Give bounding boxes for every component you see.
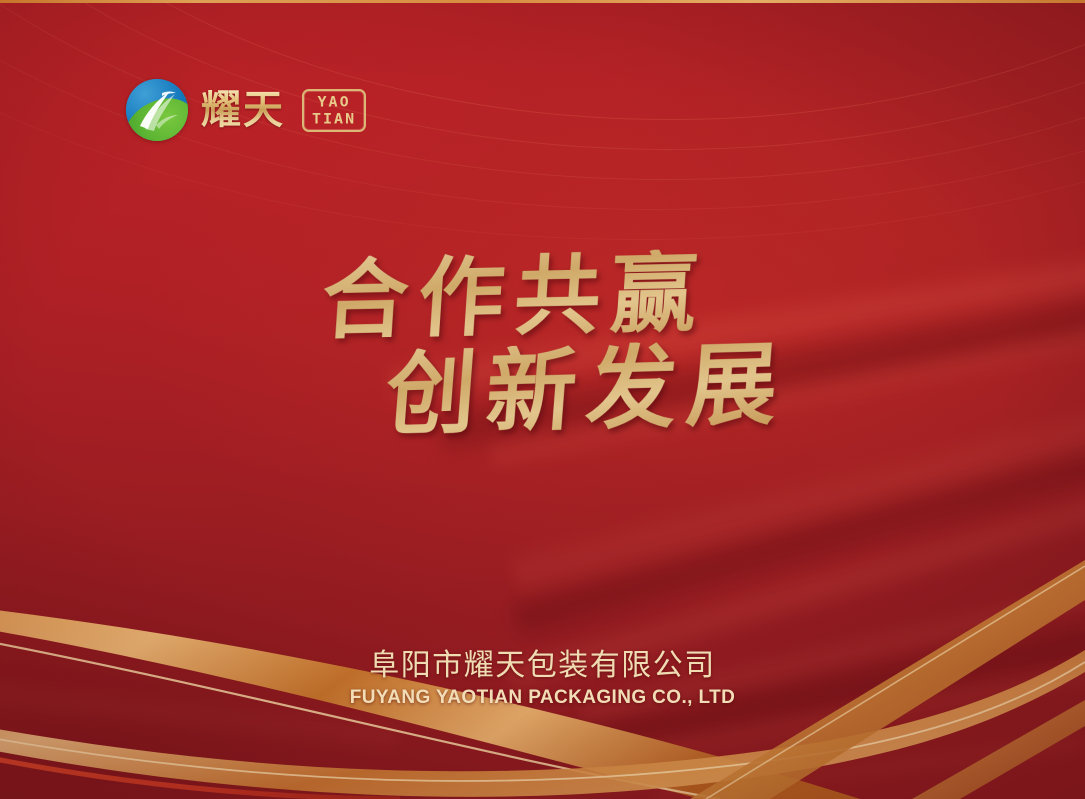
top-gold-rule xyxy=(0,0,1085,3)
company-name-cn: 阜阳市耀天包装有限公司 xyxy=(0,648,1085,684)
company-name-en: FUYANG YAOTIAN PACKAGING CO., LTD xyxy=(0,687,1085,709)
brand-name-cn: 耀天 xyxy=(201,90,285,130)
brand-logo-lockup[interactable]: 耀天 YAO TIAN xyxy=(126,74,366,146)
company-name-block: 阜阳市耀天包装有限公司 FUYANG YAOTIAN PACKAGING CO.… xyxy=(0,648,1085,709)
yaotian-circular-emblem-icon xyxy=(126,79,188,141)
poster-canvas: 耀天 YAO TIAN 合作共赢 创新发展 阜阳市耀天包装有限公司 FUYANG… xyxy=(0,0,1085,799)
emblem-swoosh-icon xyxy=(126,79,188,141)
brand-badge-yaotian: YAO TIAN xyxy=(302,89,366,132)
badge-line-yao: YAO xyxy=(318,95,351,109)
badge-line-tian: TIAN xyxy=(312,112,356,126)
